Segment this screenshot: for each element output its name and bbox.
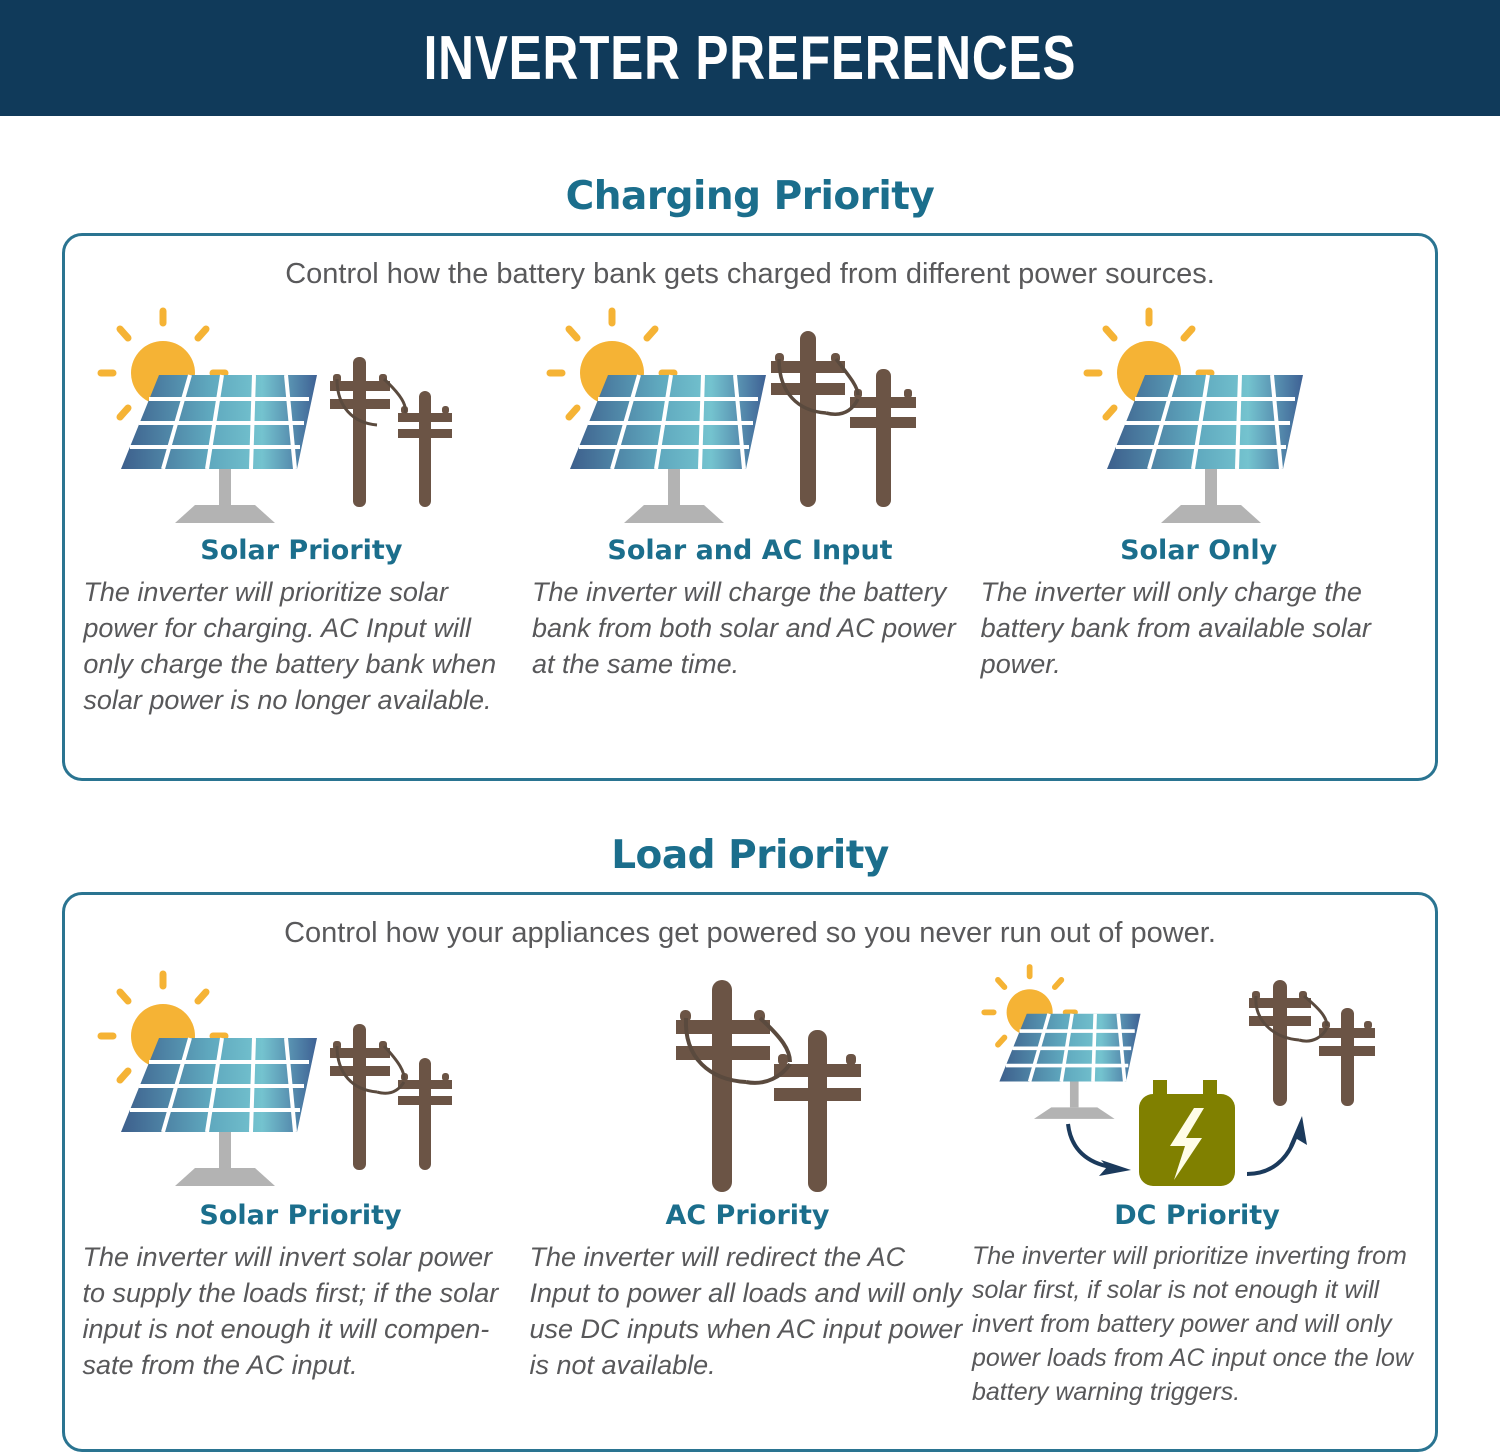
solar-panel-poles-graphic [550,317,950,529]
infographic-page: INVERTER PREFERENCES Charging Priority C… [0,0,1500,1447]
card-title: AC Priority [665,1200,829,1231]
card-title: Solar and AC Input [607,535,892,566]
card-load-solar-priority: Solar Priority The inverter will invert … [77,966,524,1409]
solar-battery-poles-graphic [971,966,1423,1194]
card-description: The inverter will charge the battery ban… [532,574,968,682]
page-header: INVERTER PREFERENCES [0,0,1500,116]
power-poles [330,1024,452,1170]
charging-priority-cards: Solar Priority The inverter will priorit… [65,317,1435,718]
power-poles [1249,980,1375,1106]
power-poles [771,331,916,507]
solar-panel-small [984,967,1140,1119]
solar-panel-poles-graphic [101,966,501,1194]
card-load-ac-priority: AC Priority The inverter will redirect t… [524,966,971,1409]
battery-icon [1139,1080,1235,1186]
card-charging-solar-and-ac-input: Solar and AC Input The inverter will cha… [526,317,975,718]
load-priority-intro: Control how your appliances get powered … [65,895,1435,950]
card-title: Solar Priority [200,535,402,566]
icon-power-poles-only [524,966,971,1194]
card-description: The inverter will invert solar power to … [83,1239,519,1383]
card-title: DC Priority [1114,1200,1280,1231]
card-description: The inverter will prioritize inverting f… [972,1239,1422,1409]
arrow-battery-to-poles [1247,1116,1307,1174]
solar-panel-poles-graphic [101,317,501,529]
charging-priority-intro: Control how the battery bank gets charge… [65,236,1435,291]
card-title: Solar Only [1120,535,1277,566]
solar-panel-graphic [999,317,1399,529]
icon-solar-panel-and-power-poles [526,317,975,529]
icon-solar-battery-poles-arrows [971,966,1423,1194]
card-description: The inverter will redirect the AC Input … [530,1239,966,1383]
card-charging-solar-only: Solar Only The inverter will only charge… [974,317,1423,718]
section-title-charging: Charging Priority [0,116,1500,219]
icon-solar-panel-only [974,317,1423,529]
card-charging-solar-priority: Solar Priority The inverter will priorit… [77,317,526,718]
power-poles-graphic [548,966,948,1194]
load-priority-panel: Control how your appliances get powered … [62,892,1438,1452]
arrow-solar-to-battery [1068,1124,1131,1176]
page-title: INVERTER PREFERENCES [424,23,1077,94]
section-load-priority: Load Priority Control how your appliance… [0,781,1500,1452]
load-priority-cards: Solar Priority The inverter will invert … [65,966,1435,1409]
icon-solar-panel-and-power-poles [77,317,526,529]
power-poles [330,357,452,507]
power-poles [676,980,861,1192]
card-title: Solar Priority [199,1200,401,1231]
icon-solar-panel-and-power-poles [77,966,524,1194]
section-charging-priority: Charging Priority Control how the batter… [0,116,1500,781]
card-load-dc-priority: DC Priority The inverter will prioritize… [971,966,1423,1409]
card-description: The inverter will only charge the batter… [981,574,1417,682]
charging-priority-panel: Control how the battery bank gets charge… [62,233,1438,781]
section-title-load: Load Priority [0,781,1500,878]
card-description: The inverter will prioritize solar power… [83,574,519,718]
